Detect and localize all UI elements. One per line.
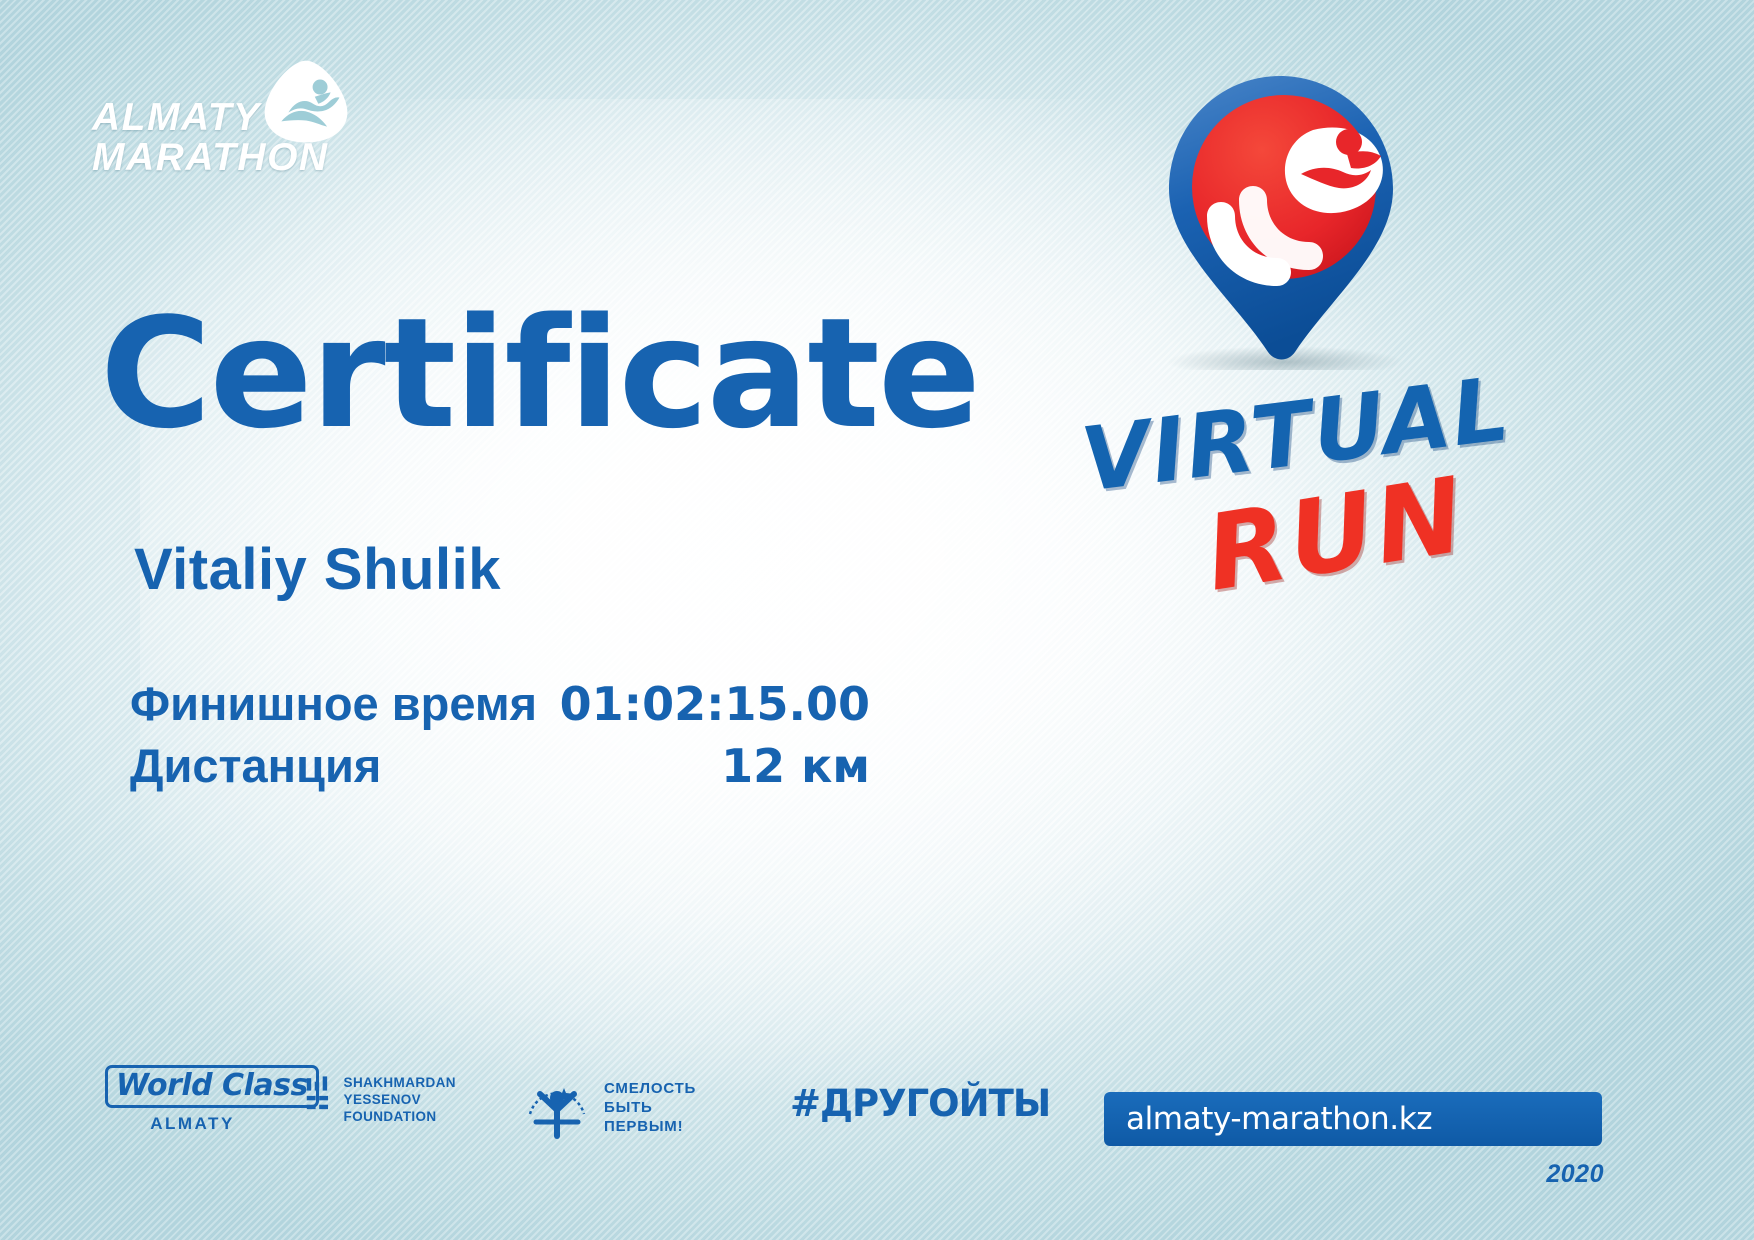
result-label: Финишное время — [130, 673, 537, 735]
bold-line-2: БЫТЬ — [604, 1098, 696, 1117]
yessenov-sub: FOUNDATION — [344, 1108, 515, 1125]
organizer-line-2: MARATHON — [92, 138, 329, 178]
virtual-run-wordmark: VIRTUAL RUN — [1075, 370, 1505, 630]
world-class-logo: World Class — [105, 1065, 319, 1108]
sponsor-hashtag: #ДРУГОЙТЫ — [790, 1084, 1050, 1124]
yessenov-name: SHAKHMARDAN YESSENOV — [344, 1074, 515, 1108]
yessenov-foundation-text: SHAKHMARDAN YESSENOV FOUNDATION — [344, 1074, 515, 1125]
result-value: 01:02:15.00 — [560, 673, 870, 735]
result-row-distance: Дистанция 12 км — [130, 735, 870, 797]
hashtag-text: #ДРУГОЙТЫ — [790, 1084, 1050, 1124]
sponsor-bold-to-be-first: СМЕЛОСТЬ БЫТЬ ПЕРВЫМ! — [520, 1068, 750, 1146]
page-title: Certificate — [100, 298, 979, 450]
sponsor-world-class: World Class ALMATY — [105, 1065, 280, 1134]
bold-line-1: СМЕЛОСТЬ — [604, 1079, 696, 1098]
year-label: 2020 — [1546, 1160, 1604, 1189]
world-class-city: ALMATY — [105, 1114, 280, 1134]
results-block: Финишное время 01:02:15.00 Дистанция 12 … — [130, 673, 870, 797]
athlete-name: Vitaliy Shulik — [134, 539, 501, 601]
virtual-run-badge: VIRTUAL RUN — [1075, 70, 1505, 630]
almaty-marathon-wordmark: ALMATY MARATHON — [92, 98, 329, 178]
sponsor-yessenov-foundation: SHAKHMARDAN YESSENOV FOUNDATION — [305, 1074, 515, 1125]
bold-to-be-first-figure-icon — [520, 1068, 594, 1146]
result-row-finish-time: Финишное время 01:02:15.00 — [130, 673, 870, 735]
world-class-name: World Class — [116, 1071, 308, 1101]
website-url[interactable]: almaty-marathon.kz — [1104, 1092, 1602, 1146]
website-bar[interactable]: almaty-marathon.kz — [1104, 1092, 1602, 1146]
result-label: Дистанция — [130, 735, 381, 797]
bold-to-be-first-text: СМЕЛОСТЬ БЫТЬ ПЕРВЫМ! — [604, 1079, 696, 1136]
sponsor-row: World Class ALMATY SHAKHMARDAN YESSENOV … — [100, 1060, 980, 1170]
organizer-line-1: ALMATY — [92, 98, 329, 138]
almaty-marathon-logo: ALMATY MARATHON — [92, 58, 352, 178]
certificate-canvas: ALMATY MARATHON Certificate Vitaliy Shul… — [0, 0, 1754, 1240]
yessenov-foundation-icon — [305, 1074, 332, 1116]
bold-line-3: ПЕРВЫМ! — [604, 1117, 696, 1136]
result-value: 12 км — [721, 735, 870, 797]
virtual-run-pin-icon — [1135, 70, 1425, 370]
